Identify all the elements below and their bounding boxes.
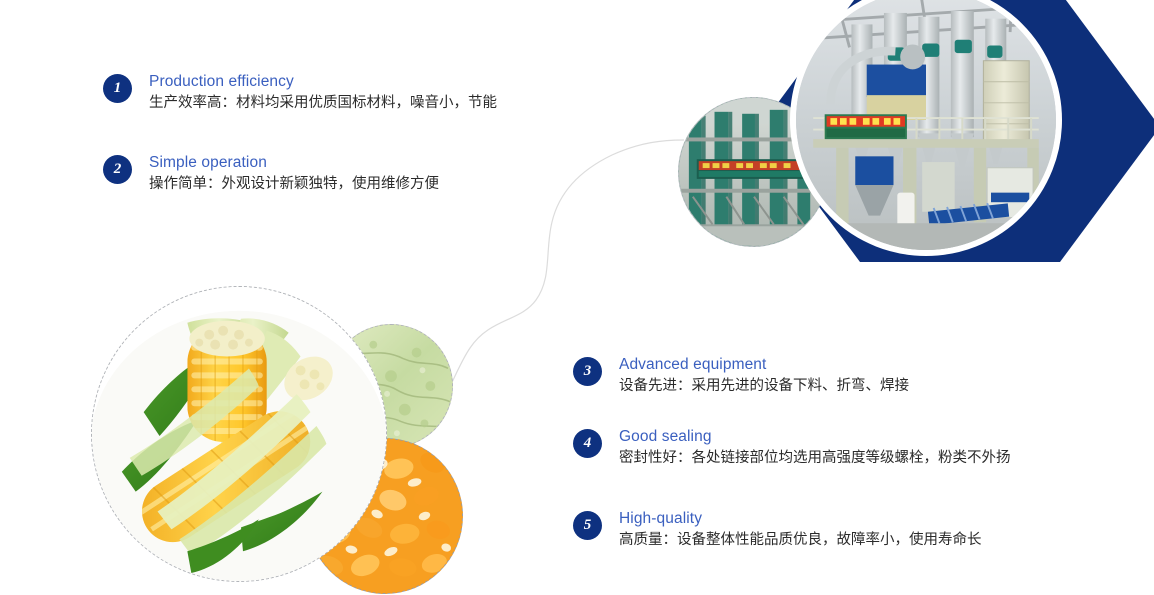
feature-item-5[interactable]: 5 High-quality 高质量：设备整体性能品质优良，故障率小，使用寿命长 (573, 509, 982, 551)
feature-title-3: Advanced equipment (619, 355, 909, 375)
feature-item-2[interactable]: 2 Simple operation 操作简单：外观设计新颖独特，使用维修方便 (103, 153, 439, 195)
feature-number-badge-1: 1 (103, 74, 132, 103)
feature-description-3: 设备先进：采用先进的设备下料、折弯、焊接 (619, 375, 909, 397)
feature-item-4[interactable]: 4 Good sealing 密封性好：各处链接部位均选用高强度等级螺栓，粉类不… (573, 427, 1011, 469)
feature-text-3: Advanced equipment 设备先进：采用先进的设备下料、折弯、焊接 (619, 355, 909, 397)
flour-mill-plant-photo (790, 0, 1062, 256)
feature-text-1: Production efficiency 生产效率高：材料均采用优质国标材料，… (149, 72, 497, 114)
feature-title-4: Good sealing (619, 427, 1011, 447)
feature-number-badge-3: 3 (573, 357, 602, 386)
feature-text-4: Good sealing 密封性好：各处链接部位均选用高强度等级螺栓，粉类不外扬 (619, 427, 1011, 469)
feature-text-5: High-quality 高质量：设备整体性能品质优良，故障率小，使用寿命长 (619, 509, 982, 551)
feature-description-2: 操作简单：外观设计新颖独特，使用维修方便 (149, 173, 439, 195)
feature-description-4: 密封性好：各处链接部位均选用高强度等级螺栓，粉类不外扬 (619, 447, 1011, 469)
poster-canvas: 1 Production efficiency 生产效率高：材料均采用优质国标材… (0, 0, 1154, 591)
feature-description-1: 生产效率高：材料均采用优质国标材料，噪音小，节能 (149, 92, 497, 114)
plant-photo-cluster (660, 0, 1154, 272)
feature-number-badge-5: 5 (573, 511, 602, 540)
corn-photo-cluster (85, 280, 485, 595)
feature-text-2: Simple operation 操作简单：外观设计新颖独特，使用维修方便 (149, 153, 439, 195)
feature-title-5: High-quality (619, 509, 982, 529)
feature-title-1: Production efficiency (149, 72, 497, 92)
fresh-corn-cobs-photo (91, 286, 387, 582)
feature-number-badge-2: 2 (103, 155, 132, 184)
feature-title-2: Simple operation (149, 153, 439, 173)
feature-item-3[interactable]: 3 Advanced equipment 设备先进：采用先进的设备下料、折弯、焊… (573, 355, 909, 397)
feature-item-1[interactable]: 1 Production efficiency 生产效率高：材料均采用优质国标材… (103, 72, 497, 114)
feature-description-5: 高质量：设备整体性能品质优良，故障率小，使用寿命长 (619, 529, 982, 551)
feature-number-badge-4: 4 (573, 429, 602, 458)
